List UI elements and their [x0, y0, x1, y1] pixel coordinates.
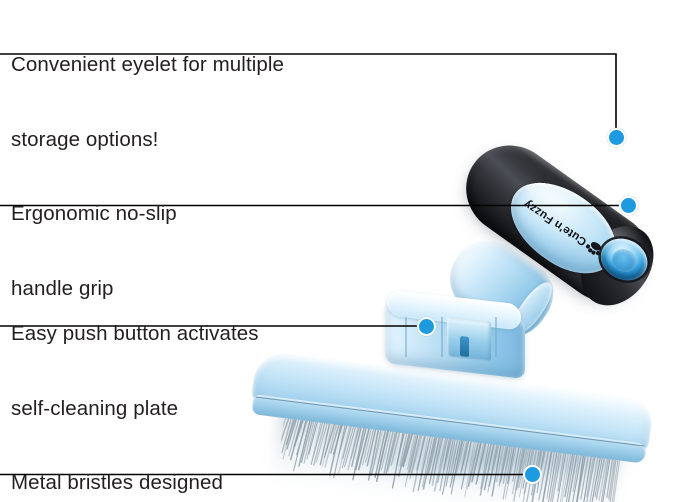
callout-dot-eyelet[interactable] — [607, 128, 626, 147]
infographic-canvas: Cute'n Fuzzy Convenient eyelet for multi… — [0, 0, 679, 502]
callout-line-1: Easy push button activates — [11, 321, 259, 346]
callout-line-1: Ergonomic no-slip — [11, 201, 177, 226]
callout-dot-bristles[interactable] — [523, 465, 542, 484]
callout-line-2: storage options! — [11, 127, 284, 152]
callout-text-bristles: Metal bristles designed to help control … — [11, 420, 231, 502]
callout-line-1: Metal bristles designed — [11, 470, 231, 495]
callout-dot-grip[interactable] — [619, 196, 638, 215]
callout-line-2: self-cleaning plate — [11, 396, 259, 421]
callout-dot-button[interactable] — [417, 317, 436, 336]
callout-line-1: Convenient eyelet for multiple — [11, 52, 284, 77]
